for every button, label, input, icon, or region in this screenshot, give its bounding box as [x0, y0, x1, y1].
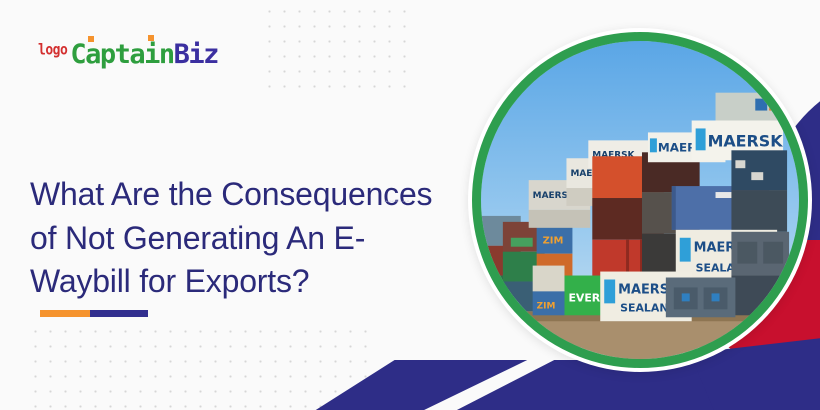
- marketing-banner: logo CaptainBiz What Are the Consequence…: [0, 0, 820, 410]
- orange-dot-accent-2: i: [144, 41, 159, 68]
- brand-logo[interactable]: logo CaptainBiz: [38, 38, 218, 78]
- accent-bar-navy: [90, 310, 148, 317]
- page-title: What Are the Consequences of Not Generat…: [30, 173, 460, 304]
- photo-green-ring: [472, 32, 808, 368]
- logo-mark-text: logo: [38, 43, 67, 58]
- dot-grid-bottom-left: [28, 324, 368, 410]
- watermark-text: captainbiz.com: [384, 199, 410, 203]
- accent-bar-orange: [40, 310, 90, 317]
- brand-wordmark: CaptainBiz: [70, 41, 218, 68]
- brand-wordmark-captain: Captain: [70, 39, 173, 70]
- hero-photo: ZIM ZIM MAERSK MAERSK MAERSK: [468, 28, 812, 372]
- brand-wordmark-biz: Biz: [174, 39, 218, 70]
- accent-bar-group: [40, 310, 148, 317]
- orange-dot-accent-1: apta: [85, 41, 144, 68]
- dot-grid-top-right: [262, 4, 414, 92]
